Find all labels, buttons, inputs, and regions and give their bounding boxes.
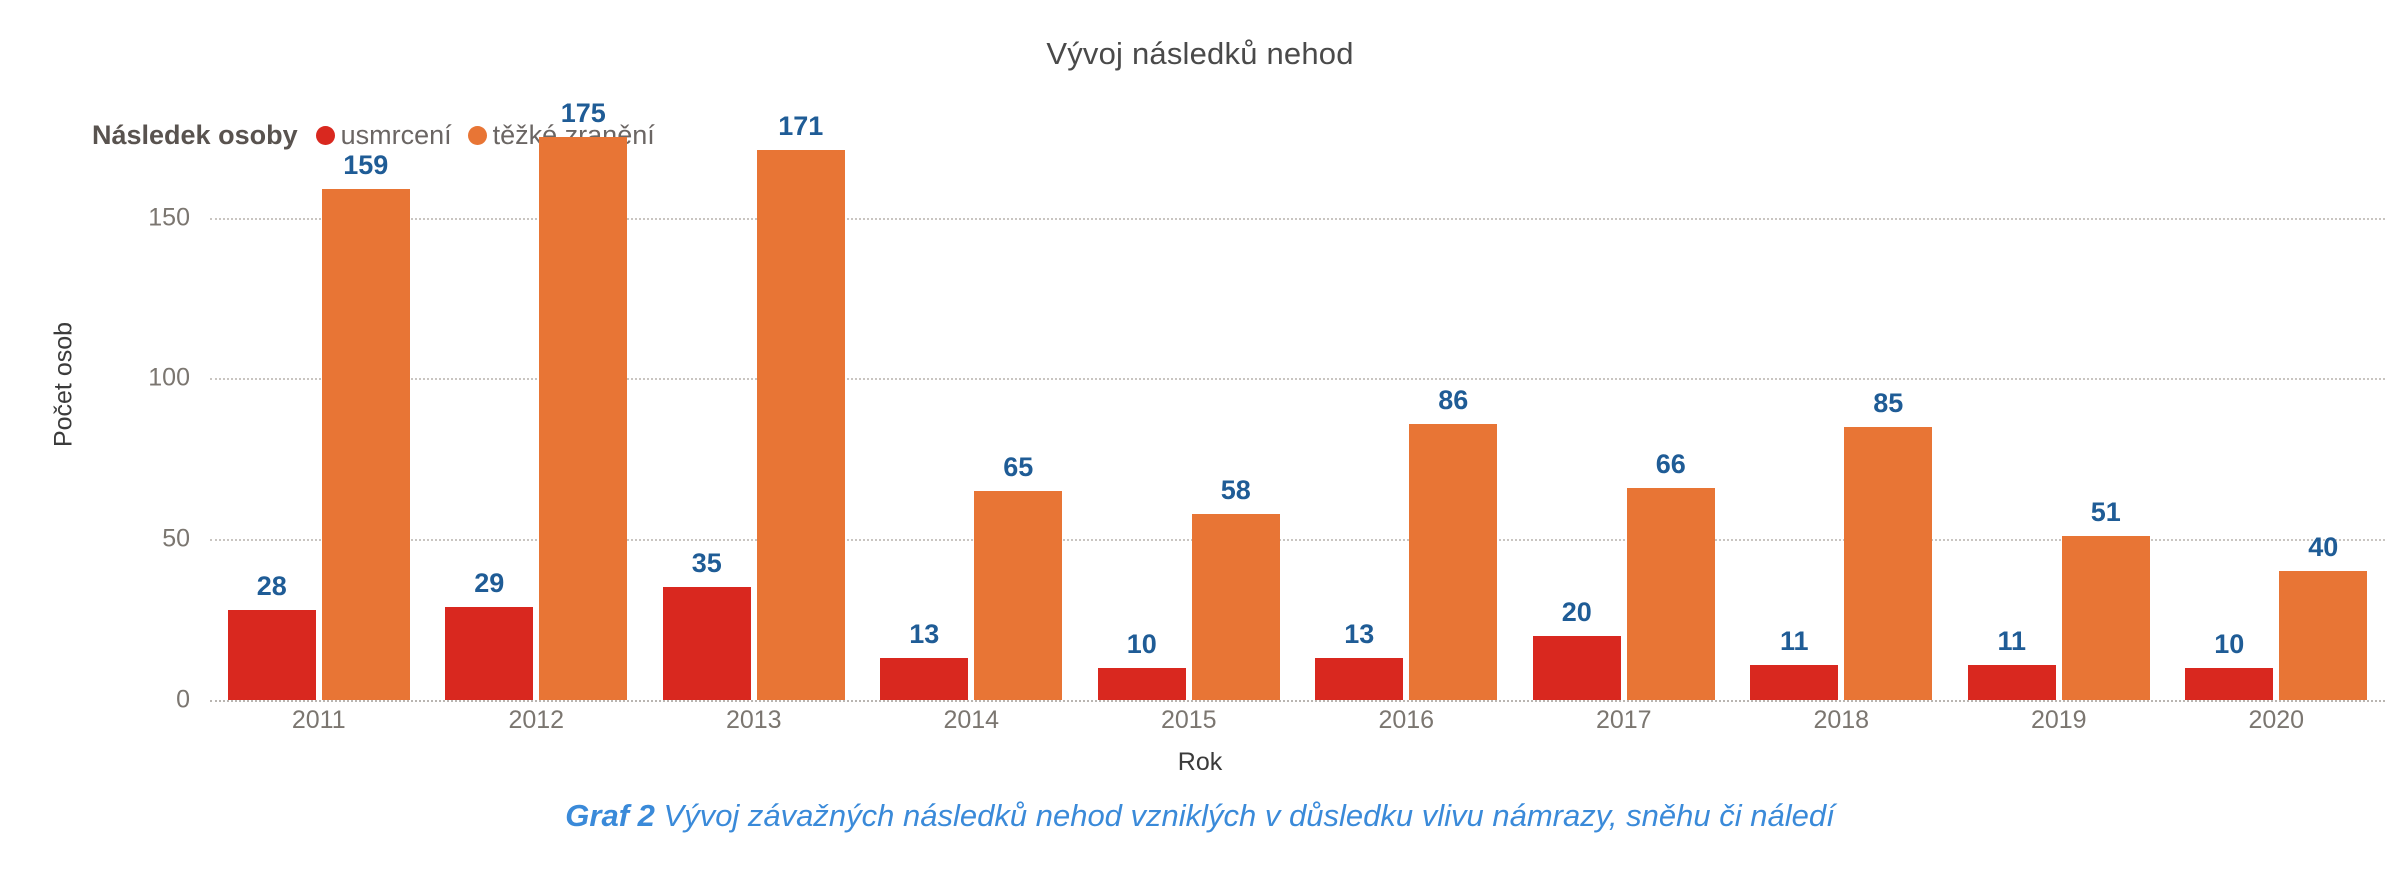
- caption-text: Vývoj závažných následků nehod vzniklých…: [655, 798, 1835, 833]
- x-tick-label-2011: 2011: [210, 706, 428, 735]
- bar-group-2012: 29175: [445, 0, 627, 700]
- x-axis-title: Rok: [0, 748, 2400, 777]
- x-tick-label-2014: 2014: [863, 706, 1081, 735]
- bar-2011-usmrceni[interactable]: [228, 610, 316, 700]
- x-tick-label-2020: 2020: [2168, 706, 2386, 735]
- bar-2013-tezke-zraneni[interactable]: [757, 150, 845, 700]
- bar-value-label-2013-usmrceni: 35: [663, 548, 751, 579]
- bar-value-label-2012-usmrceni: 29: [445, 568, 533, 599]
- bar-2020-tezke-zraneni[interactable]: [2279, 571, 2367, 700]
- bar-group-2014: 1365: [880, 0, 1062, 700]
- bar-value-label-2012-tezke-zraneni: 175: [539, 98, 627, 129]
- x-tick-label-2015: 2015: [1080, 706, 1298, 735]
- bar-2016-tezke-zraneni[interactable]: [1409, 424, 1497, 701]
- x-tick-label-2016: 2016: [1298, 706, 1516, 735]
- bar-value-label-2015-tezke-zraneni: 58: [1192, 475, 1280, 506]
- x-tick-label-2017: 2017: [1515, 706, 1733, 735]
- bar-group-2013: 35171: [663, 0, 845, 700]
- x-tick-label-2019: 2019: [1950, 706, 2168, 735]
- bar-2019-tezke-zraneni[interactable]: [2062, 536, 2150, 700]
- bar-value-label-2019-usmrceni: 11: [1968, 626, 2056, 657]
- x-tick-label-2012: 2012: [428, 706, 646, 735]
- bar-2015-tezke-zraneni[interactable]: [1192, 514, 1280, 700]
- bar-group-2017: 2066: [1533, 0, 1715, 700]
- bar-value-label-2014-tezke-zraneni: 65: [974, 452, 1062, 483]
- bar-group-2018: 1185: [1750, 0, 1932, 700]
- bar-2014-tezke-zraneni[interactable]: [974, 491, 1062, 700]
- bar-group-2015: 1058: [1098, 0, 1280, 700]
- bar-value-label-2020-tezke-zraneni: 40: [2279, 532, 2367, 563]
- bar-group-2020: 1040: [2185, 0, 2367, 700]
- bar-2019-usmrceni[interactable]: [1968, 665, 2056, 700]
- bar-value-label-2011-usmrceni: 28: [228, 571, 316, 602]
- bar-value-label-2018-tezke-zraneni: 85: [1844, 388, 1932, 419]
- bar-2020-usmrceni[interactable]: [2185, 668, 2273, 700]
- bar-value-label-2017-usmrceni: 20: [1533, 597, 1621, 628]
- bar-value-label-2016-tezke-zraneni: 86: [1409, 385, 1497, 416]
- y-tick-label-50: 50: [100, 525, 190, 554]
- bar-group-2011: 28159: [228, 0, 410, 700]
- gridline-0: [210, 700, 2385, 702]
- bar-value-label-2014-usmrceni: 13: [880, 619, 968, 650]
- bars-layer: 2815929175351711365105813862066118511511…: [210, 0, 2385, 700]
- bar-value-label-2020-usmrceni: 10: [2185, 629, 2273, 660]
- bar-value-label-2013-tezke-zraneni: 171: [757, 111, 845, 142]
- bar-value-label-2018-usmrceni: 11: [1750, 626, 1838, 657]
- y-tick-label-100: 100: [100, 364, 190, 393]
- x-tick-label-2018: 2018: [1733, 706, 1951, 735]
- y-tick-label-150: 150: [100, 203, 190, 232]
- x-tick-label-2013: 2013: [645, 706, 863, 735]
- y-axis-title: Počet osob: [50, 275, 79, 495]
- bar-group-2016: 1386: [1315, 0, 1497, 700]
- bar-value-label-2011-tezke-zraneni: 159: [322, 150, 410, 181]
- bar-2011-tezke-zraneni[interactable]: [322, 189, 410, 700]
- y-tick-label-0: 0: [100, 686, 190, 715]
- bar-2017-usmrceni[interactable]: [1533, 636, 1621, 700]
- bar-value-label-2016-usmrceni: 13: [1315, 619, 1403, 650]
- bar-value-label-2019-tezke-zraneni: 51: [2062, 497, 2150, 528]
- plot-area: Počet osob 050100150 2815929175351711365…: [0, 0, 2400, 760]
- bar-2017-tezke-zraneni[interactable]: [1627, 488, 1715, 700]
- bar-value-label-2017-tezke-zraneni: 66: [1627, 449, 1715, 480]
- bar-value-label-2015-usmrceni: 10: [1098, 629, 1186, 660]
- bar-2016-usmrceni[interactable]: [1315, 658, 1403, 700]
- bar-2018-tezke-zraneni[interactable]: [1844, 427, 1932, 700]
- figure-caption: Graf 2 Vývoj závažných následků nehod vz…: [0, 798, 2400, 834]
- bar-2012-usmrceni[interactable]: [445, 607, 533, 700]
- bar-2013-usmrceni[interactable]: [663, 587, 751, 700]
- bar-2014-usmrceni[interactable]: [880, 658, 968, 700]
- bar-group-2019: 1151: [1968, 0, 2150, 700]
- bar-2015-usmrceni[interactable]: [1098, 668, 1186, 700]
- bar-2018-usmrceni[interactable]: [1750, 665, 1838, 700]
- bar-2012-tezke-zraneni[interactable]: [539, 137, 627, 700]
- caption-label: Graf 2: [565, 798, 655, 833]
